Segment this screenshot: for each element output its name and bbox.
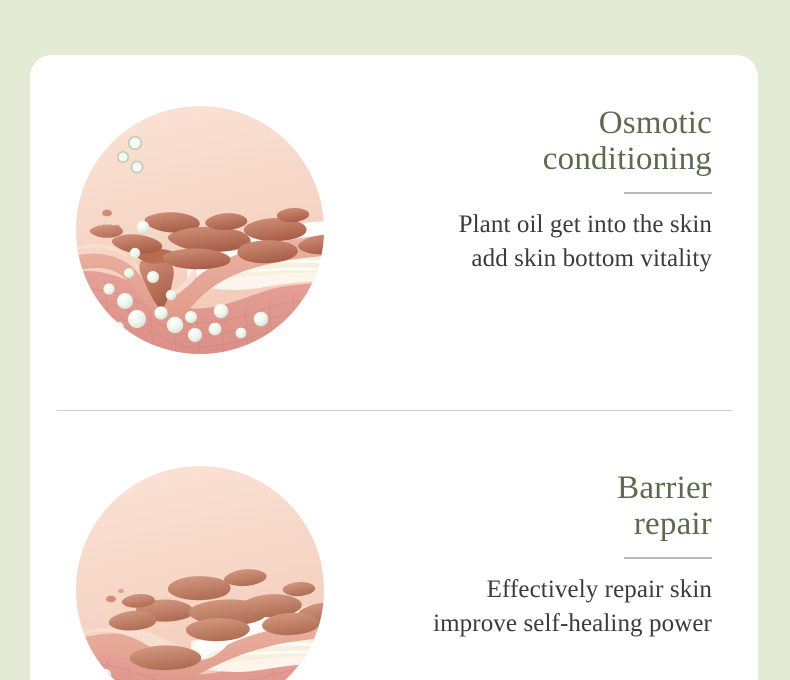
- feature-section-osmotic-conditioning: Osmotic conditioning Plant oil get into …: [30, 55, 758, 400]
- feature-card: Osmotic conditioning Plant oil get into …: [30, 55, 758, 680]
- feature-title: Barrier repair: [382, 470, 712, 543]
- illustration-container: [75, 465, 325, 680]
- feature-text-block: Barrier repair Effectively repair skin i…: [382, 470, 712, 642]
- feature-section-barrier-repair: Barrier repair Effectively repair skin i…: [30, 410, 758, 680]
- title-underline: [624, 557, 712, 559]
- feature-title-line-2: conditioning: [543, 141, 712, 177]
- feature-description-line-2: add skin bottom vitality: [382, 242, 712, 277]
- feature-description: Plant oil get into the skin add skin bot…: [382, 208, 712, 277]
- skin-cross-section-barrier-illustration: [75, 465, 325, 680]
- feature-description-line-1: Plant oil get into the skin: [382, 208, 712, 243]
- feature-text-block: Osmotic conditioning Plant oil get into …: [382, 105, 712, 277]
- skin-cross-section-osmotic-illustration: [75, 105, 325, 355]
- feature-title-line-1: Osmotic: [599, 105, 712, 141]
- illustration-container: [75, 105, 325, 355]
- feature-description-line-2: improve self-healing power: [382, 607, 712, 642]
- feature-description: Effectively repair skin improve self-hea…: [382, 573, 712, 642]
- feature-title-line-2: repair: [634, 506, 712, 542]
- feature-title: Osmotic conditioning: [382, 105, 712, 178]
- feature-title-line-1: Barrier: [617, 470, 712, 506]
- title-underline: [624, 192, 712, 194]
- feature-description-line-1: Effectively repair skin: [382, 573, 712, 608]
